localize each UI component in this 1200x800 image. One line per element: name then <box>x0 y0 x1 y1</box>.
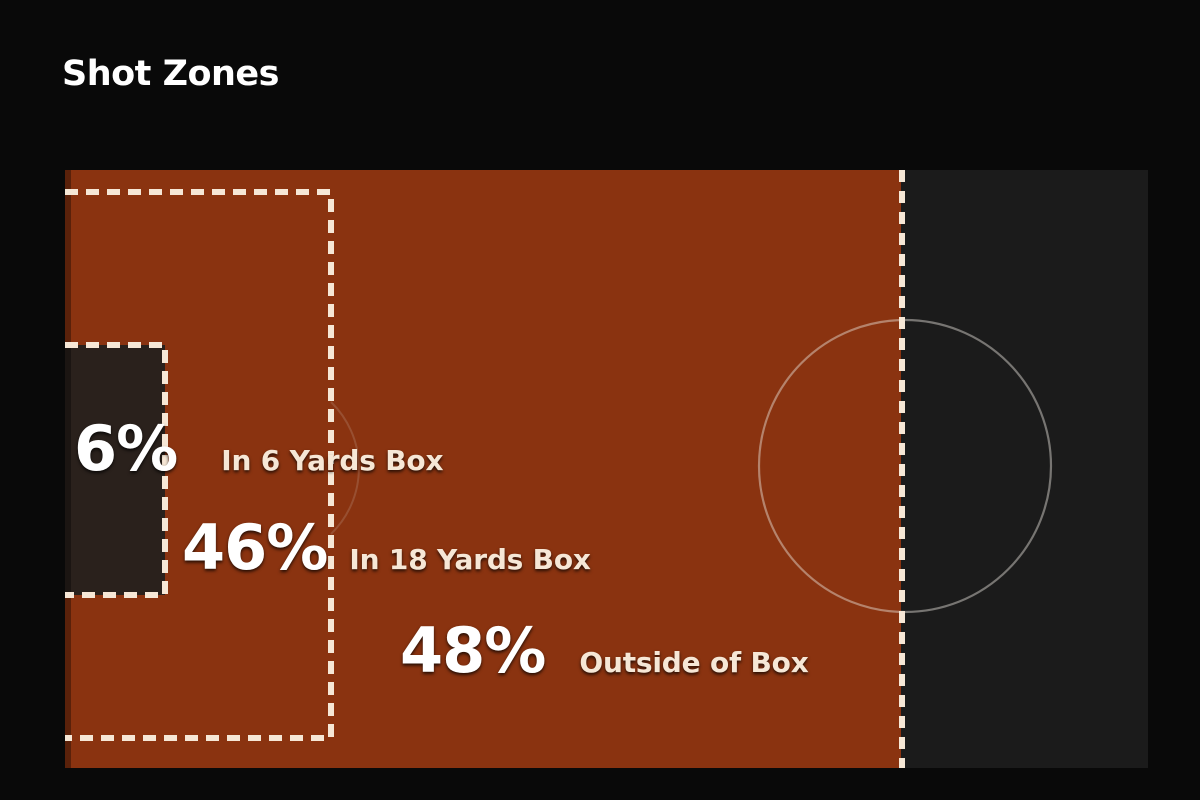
goal-line-shadow <box>65 170 71 768</box>
shot-zones-panel: Shot Zones <box>0 0 1200 800</box>
page-title: Shot Zones <box>62 57 279 92</box>
six-yard-box-fill <box>65 345 165 595</box>
pitch-active-area <box>65 170 901 768</box>
pitch-diagram <box>65 170 1148 768</box>
pitch-graphic <box>65 170 1148 768</box>
